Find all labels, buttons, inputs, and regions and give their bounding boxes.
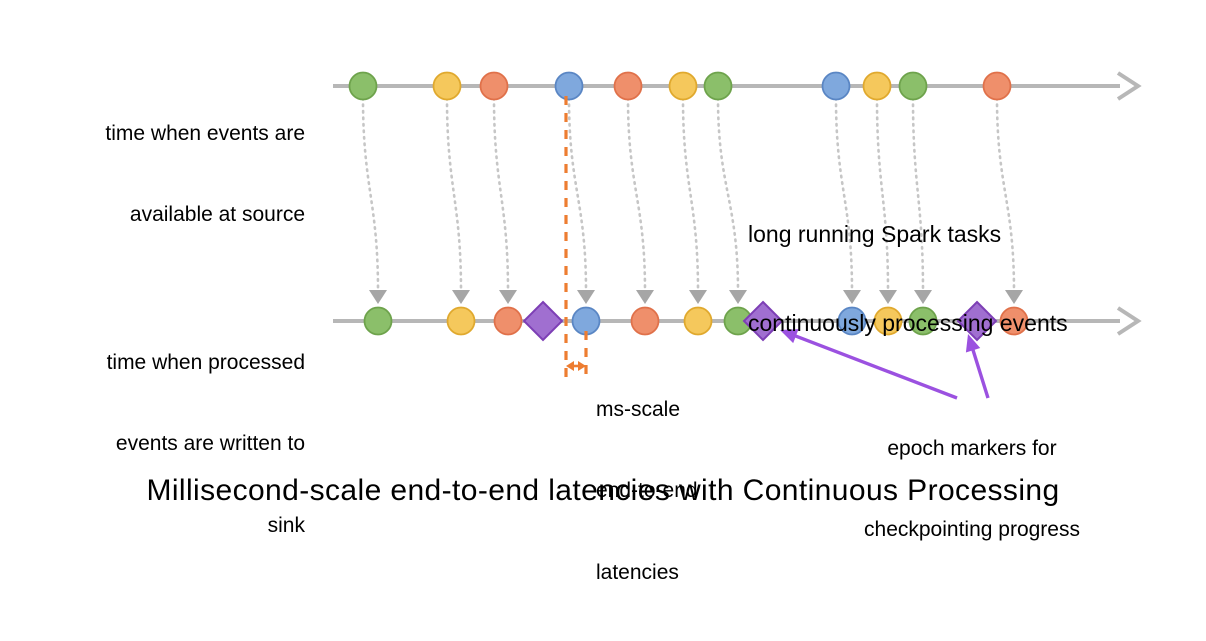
sink-event-orange-2 bbox=[495, 308, 522, 335]
sink-label-line2: events are written to bbox=[40, 430, 305, 457]
source-timeline-label: time when events are available at source bbox=[40, 65, 305, 283]
sink-event-blue-4 bbox=[573, 308, 600, 335]
source-event-orange-2 bbox=[481, 73, 508, 100]
event-connector-3 bbox=[569, 98, 586, 291]
latency-label-line1: ms-scale bbox=[596, 396, 776, 423]
event-connector-4 bbox=[628, 98, 645, 291]
source-label-line1: time when events are bbox=[40, 120, 305, 147]
source-event-blue-7 bbox=[823, 73, 850, 100]
source-event-yellow-8 bbox=[864, 73, 891, 100]
tasks-label-line2: continuously processing events bbox=[748, 309, 1178, 339]
connector-arrowhead-4 bbox=[636, 290, 654, 304]
sink-label-line1: time when processed bbox=[40, 349, 305, 376]
event-connector-6 bbox=[718, 98, 738, 291]
connector-arrowhead-0 bbox=[369, 290, 387, 304]
connector-arrowhead-6 bbox=[729, 290, 747, 304]
source-event-green-0 bbox=[350, 73, 377, 100]
diagram-canvas: time when events are available at source… bbox=[0, 0, 1206, 570]
figure-caption: Millisecond-scale end-to-end latencies w… bbox=[40, 471, 1166, 510]
event-connector-0 bbox=[363, 98, 378, 291]
event-connector-5 bbox=[683, 98, 698, 291]
source-label-line2: available at source bbox=[40, 201, 305, 228]
epoch-label-line2: checkpointing progress bbox=[838, 516, 1106, 543]
sink-event-yellow-6 bbox=[685, 308, 712, 335]
sink-event-green-0 bbox=[365, 308, 392, 335]
source-event-orange-10 bbox=[984, 73, 1011, 100]
source-event-green-9 bbox=[900, 73, 927, 100]
sink-label-line3: sink bbox=[40, 512, 305, 539]
sink-timeline-label: time when processed events are written t… bbox=[40, 294, 305, 594]
source-timeline-arrowhead bbox=[1118, 73, 1138, 99]
event-connector-1 bbox=[447, 98, 461, 291]
source-event-green-6 bbox=[705, 73, 732, 100]
source-event-blue-3 bbox=[556, 73, 583, 100]
event-connector-2 bbox=[494, 98, 508, 291]
sink-event-orange-5 bbox=[632, 308, 659, 335]
connector-arrowhead-5 bbox=[689, 290, 707, 304]
source-event-orange-4 bbox=[615, 73, 642, 100]
tasks-label-line1: long running Spark tasks bbox=[748, 220, 1178, 250]
epoch-label-line1: epoch markers for bbox=[838, 435, 1106, 462]
latency-label-line3: latencies bbox=[596, 559, 776, 586]
connector-arrowhead-3 bbox=[577, 290, 595, 304]
sink-event-yellow-1 bbox=[448, 308, 475, 335]
connector-arrowhead-2 bbox=[499, 290, 517, 304]
epoch-marker-3 bbox=[524, 302, 562, 340]
source-event-yellow-5 bbox=[670, 73, 697, 100]
source-event-yellow-1 bbox=[434, 73, 461, 100]
spark-tasks-annotation: long running Spark tasks continuously pr… bbox=[748, 160, 1178, 399]
connector-arrowhead-1 bbox=[452, 290, 470, 304]
